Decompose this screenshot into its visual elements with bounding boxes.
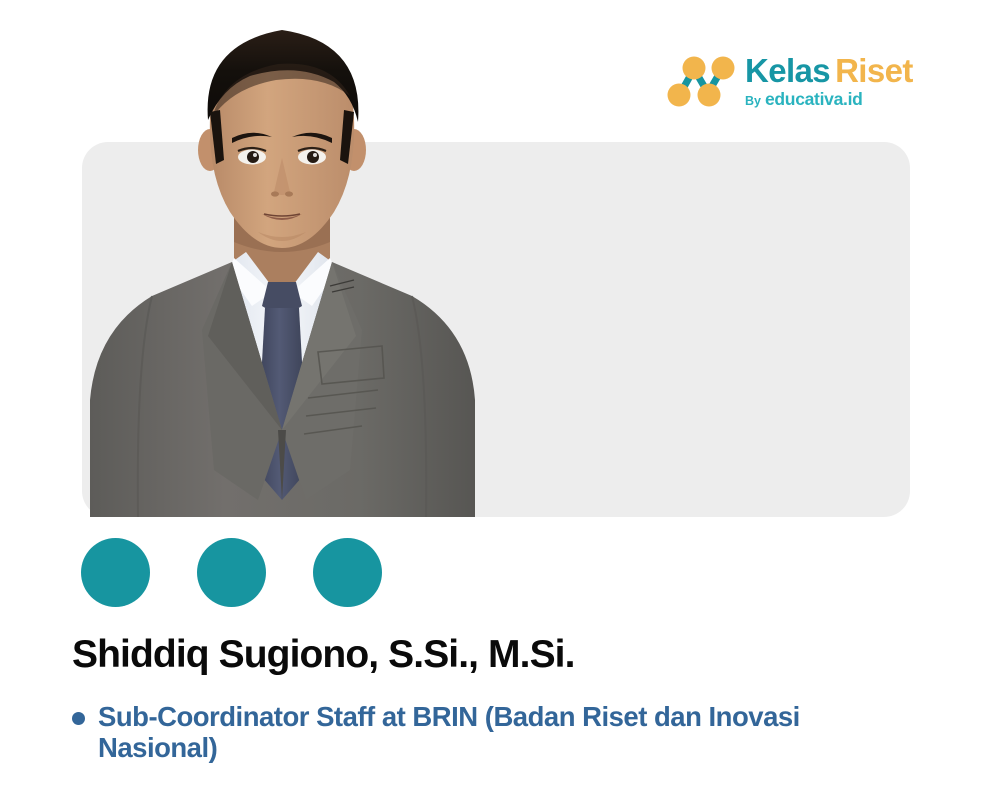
decorative-dot-3 (313, 538, 382, 607)
decorative-dot-1 (81, 538, 150, 607)
brand-name: KelasRiset (745, 54, 913, 87)
brand-name-riset: Riset (835, 52, 913, 89)
brand-wordmark: KelasRiset By educativa.id (745, 54, 913, 109)
speaker-name: Shiddiq Sugiono, S.Si., M.Si. (72, 633, 575, 677)
decorative-dots (81, 538, 382, 607)
speaker-role-row: Sub-Coordinator Staff at BRIN (Badan Ris… (72, 702, 892, 764)
brand-logo: KelasRiset By educativa.id (664, 52, 913, 110)
brand-name-kelas: Kelas (745, 52, 830, 89)
decorative-dot-2 (197, 538, 266, 607)
brand-byline: By educativa.id (745, 91, 913, 109)
brand-byline-name: educativa.id (765, 91, 863, 109)
bullet-icon (72, 712, 85, 725)
photo-card (82, 142, 910, 517)
speaker-role: Sub-Coordinator Staff at BRIN (Badan Ris… (98, 702, 860, 764)
speaker-profile-slide: KelasRiset By educativa.id (0, 0, 984, 787)
network-nodes-icon (664, 52, 736, 110)
brand-byline-prefix: By (745, 95, 761, 108)
